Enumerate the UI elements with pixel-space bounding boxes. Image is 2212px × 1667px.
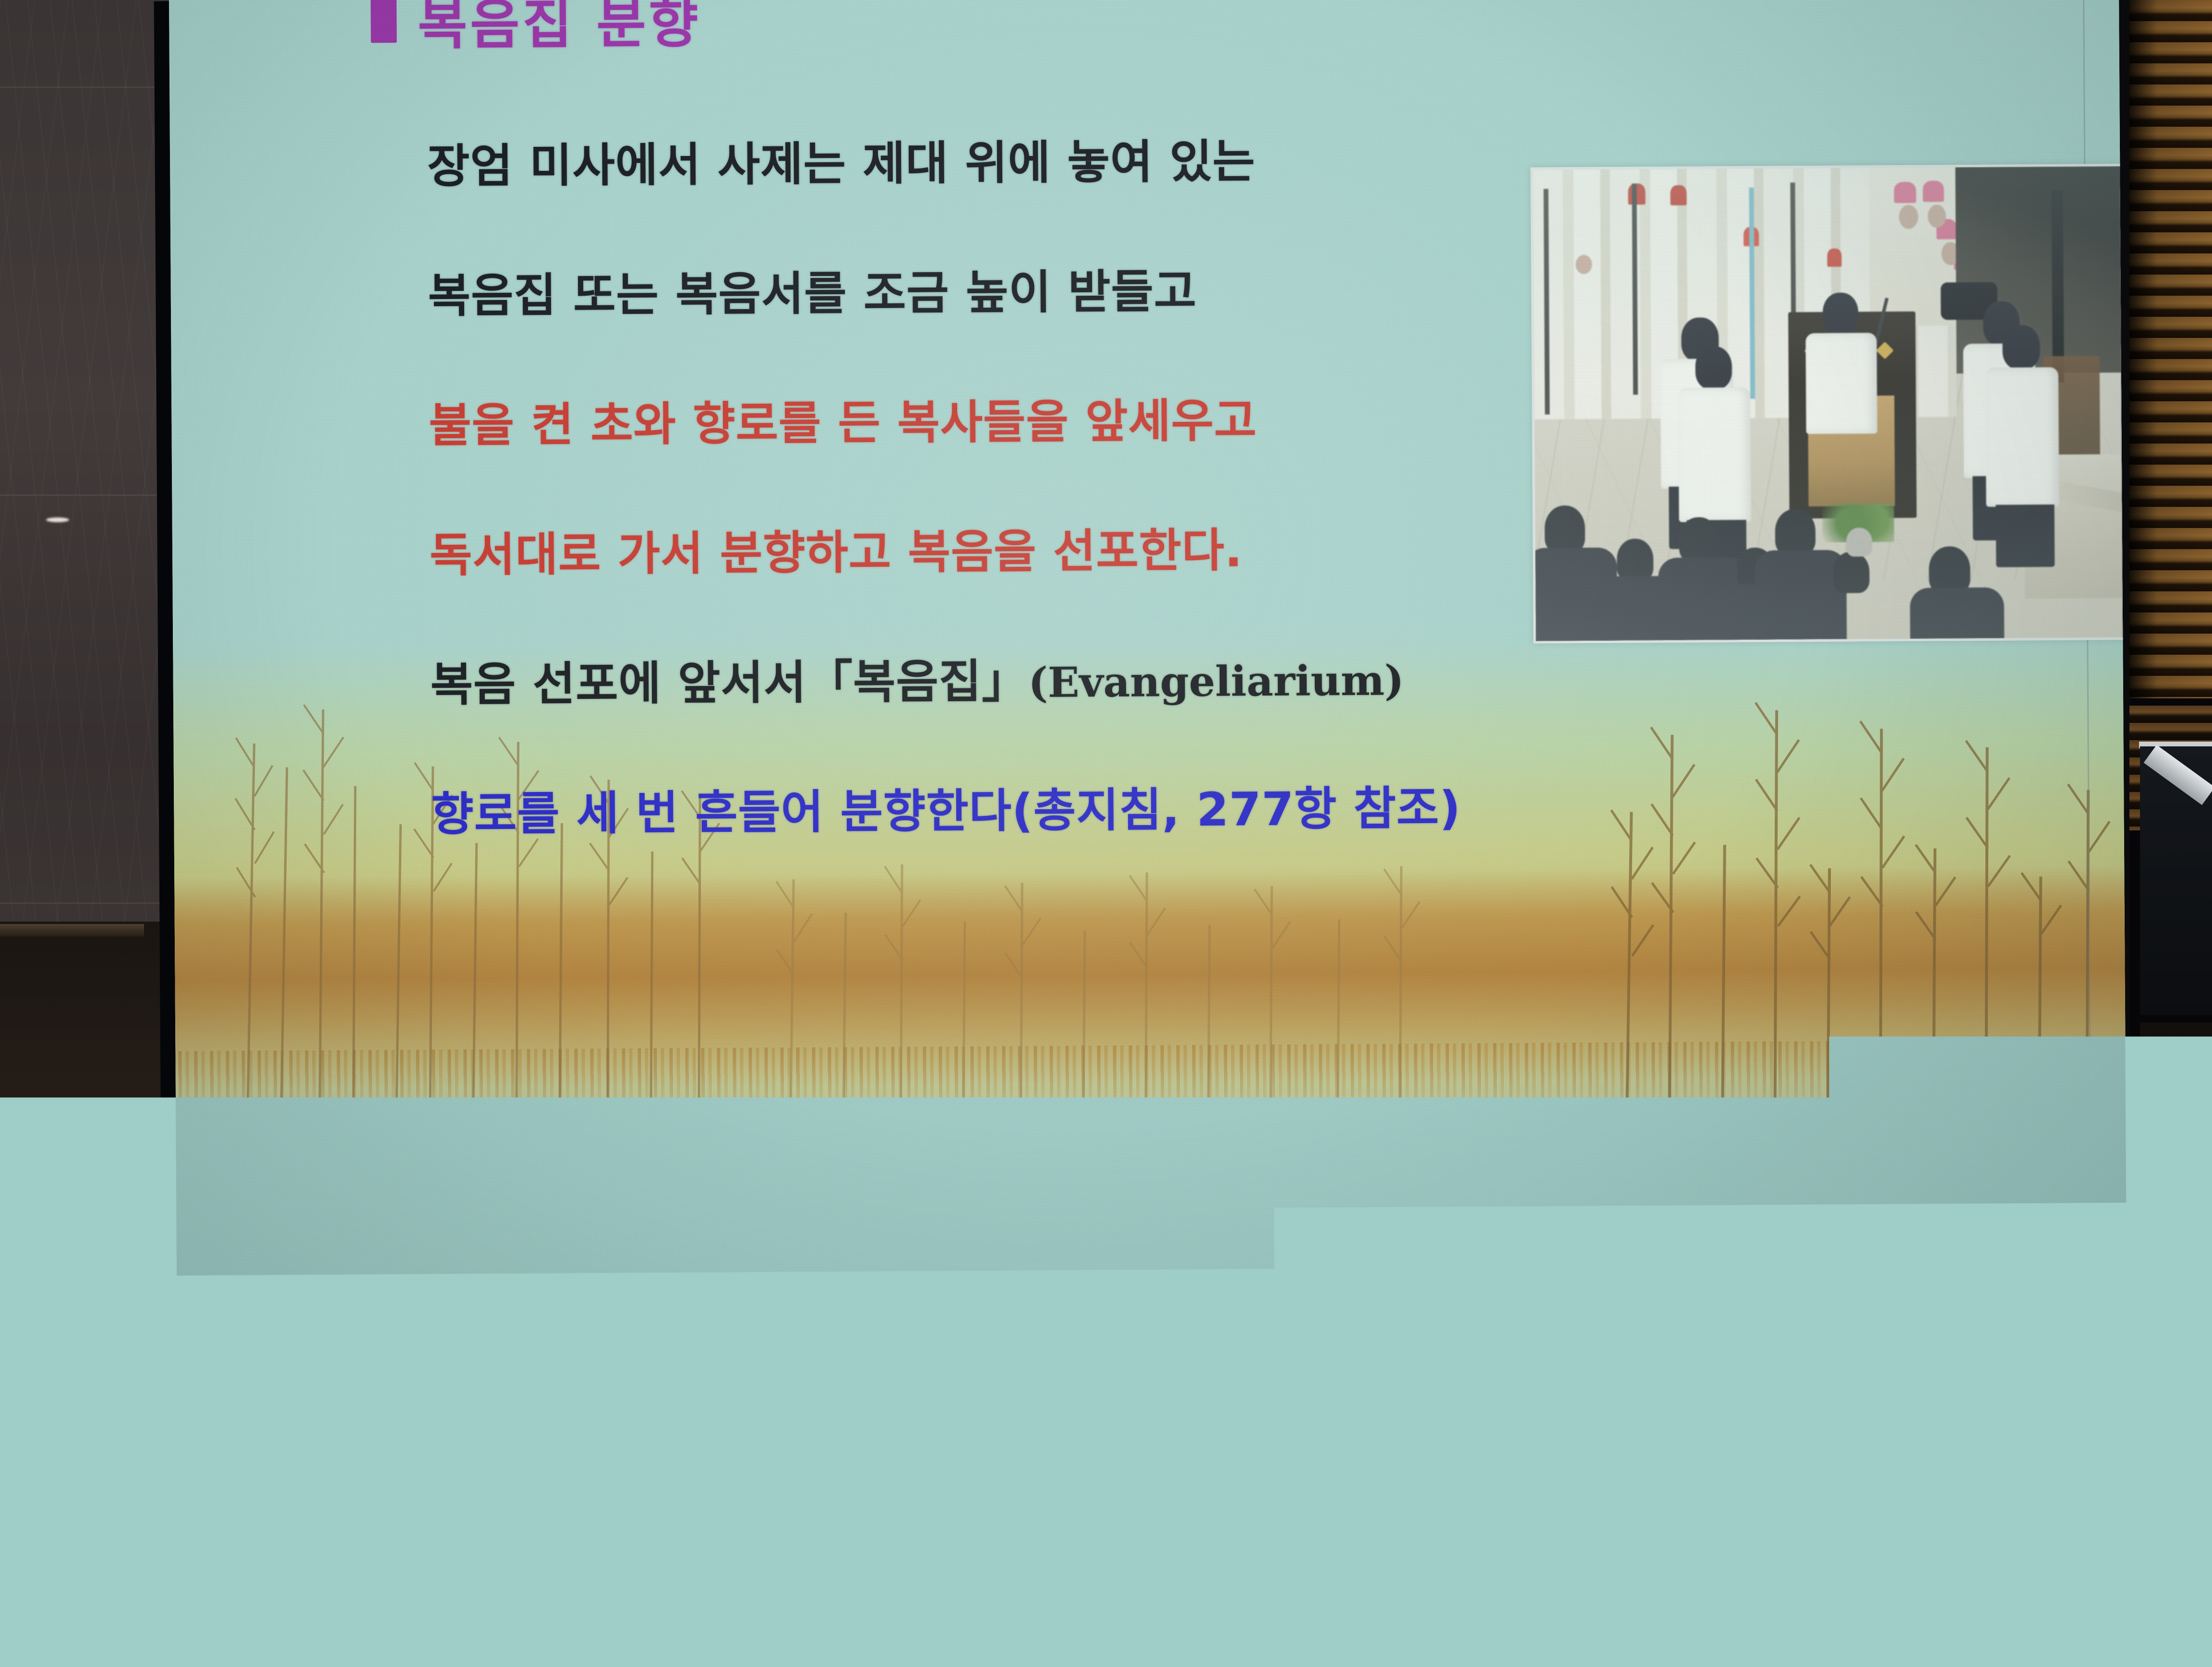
body-line-2: 복음집 또는 복음서를 조금 높이 받들고 xyxy=(428,266,1547,319)
projection-screen: 복음집 분향 장엄 미사에서 사제는 제대 위에 놓여 있는 복음집 또는 복음… xyxy=(169,0,2128,1390)
room-scene: 복음집 분향 장엄 미사에서 사제는 제대 위에 놓여 있는 복음집 또는 복음… xyxy=(0,0,2212,1659)
blinds-shadow xyxy=(2129,0,2212,706)
slide-body: 장엄 미사에서 사제는 제대 위에 놓여 있는 복음집 또는 복음서를 조금 높… xyxy=(427,136,1550,837)
projector-reflected-text xyxy=(288,1517,576,1536)
marble-seam xyxy=(0,86,169,88)
photo-projector-color-cast xyxy=(1533,166,2127,641)
marble-seam xyxy=(0,902,169,904)
projector-status-led xyxy=(490,1534,493,1553)
square-bullet-icon xyxy=(371,0,397,43)
projector-vent-grille xyxy=(365,1579,461,1661)
body-line-6-korean: 향로를 세 번 흔들어 분향한다 xyxy=(431,784,1012,841)
body-line-6: 향로를 세 번 흔들어 분향한다(총지침, 277항 참조) xyxy=(431,784,1550,837)
marble-seam xyxy=(0,494,169,496)
wall-specular-highlight xyxy=(46,517,69,522)
projector-cable xyxy=(696,1459,888,1661)
body-line-3: 불을 켠 초와 향로를 든 복사들을 앞세우고 xyxy=(429,396,1548,448)
body-line-5-latin: (Evangeliarium) xyxy=(1028,656,1404,707)
projector-status-led xyxy=(509,1536,513,1554)
floor-strip-object xyxy=(710,1640,1277,1661)
mass-photograph xyxy=(1530,163,2127,644)
page-title: 복음집 분향 xyxy=(418,0,701,60)
counter-edge-lower xyxy=(0,1282,120,1291)
right-brown-furniture xyxy=(2148,1286,2205,1488)
body-line-5-korean: 복음 선포에 앞서서「복음집」 xyxy=(430,654,1028,712)
projector-power-led xyxy=(422,1550,450,1563)
slide-title-row: 복음집 분향 xyxy=(371,0,701,60)
body-line-6-reference: (총지침, 277항 참조) xyxy=(1012,781,1461,838)
body-line-5: 복음 선포에 앞서서「복음집」(Evangeliarium) xyxy=(430,655,1549,708)
presentation-slide: 복음집 분향 장엄 미사에서 사제는 제대 위에 놓여 있는 복음집 또는 복음… xyxy=(169,0,2128,1368)
body-line-1: 장엄 미사에서 사제는 제대 위에 놓여 있는 xyxy=(427,136,1546,189)
body-line-4: 독서대로 가서 분향하고 복음을 선포한다. xyxy=(430,525,1549,578)
counter-edge-upper xyxy=(0,924,144,936)
projector-adjacent-knob xyxy=(115,1554,173,1600)
